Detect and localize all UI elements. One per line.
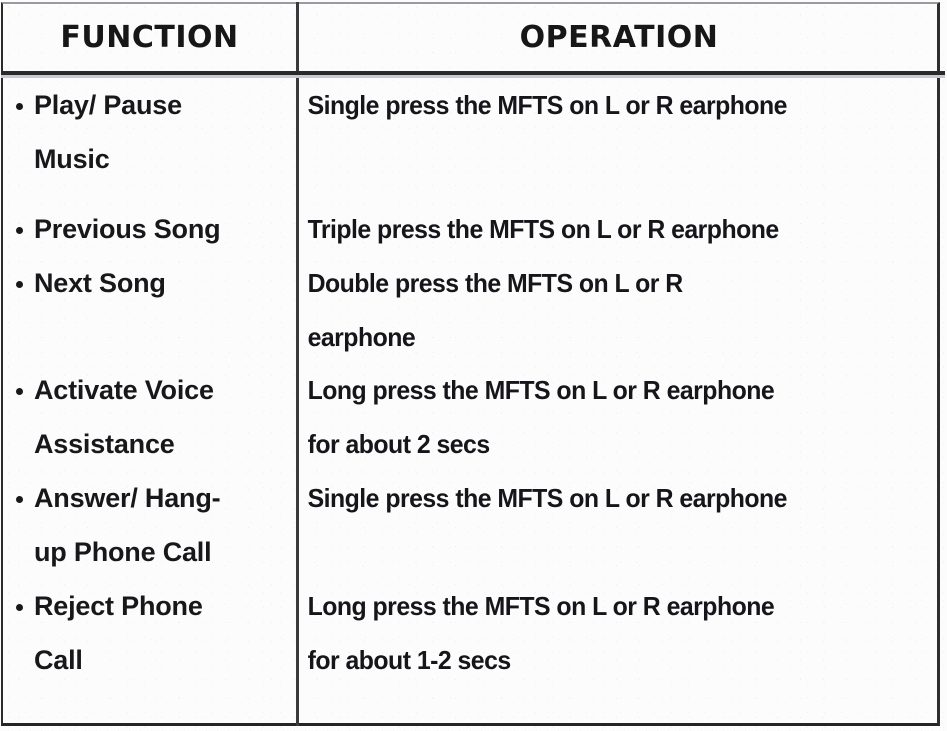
- header-cell-operation: OPERATION: [299, 4, 939, 71]
- operation-column: Single press the MFTS on L or R earphone…: [299, 78, 939, 726]
- header-cell-function: FUNCTION: [3, 4, 296, 71]
- function-line: up Phone Call: [3, 525, 211, 579]
- function-line: Reject Phone: [3, 579, 203, 633]
- operation-line: for about 1-2 secs: [299, 633, 511, 687]
- table-body: Play/ Pause Music Previous Song Next Son…: [0, 78, 947, 726]
- column-header-function: FUNCTION: [60, 20, 238, 55]
- operation-line: earphone: [299, 310, 415, 364]
- function-line: Next Song: [3, 256, 166, 310]
- column-header-operation: OPERATION: [520, 20, 719, 55]
- table-header-row: FUNCTION OPERATION: [0, 4, 947, 71]
- earphone-control-table-page: FUNCTION OPERATION Play/ Pause Music Pre…: [0, 0, 947, 731]
- operation-line: Single press the MFTS on L or R earphone: [299, 78, 787, 132]
- function-column: Play/ Pause Music Previous Song Next Son…: [3, 78, 296, 726]
- operation-line: Double press the MFTS on L or R: [299, 256, 683, 310]
- function-line: Play/ Pause: [3, 78, 182, 132]
- function-line: Assistance: [3, 417, 175, 471]
- function-line: Call: [3, 633, 83, 687]
- operation-line: Triple press the MFTS on L or R earphone: [299, 202, 779, 256]
- operation-line: for about 2 secs: [299, 417, 490, 471]
- operation-line: Single press the MFTS on L or R earphone: [299, 471, 787, 525]
- function-line: Activate Voice: [3, 363, 214, 417]
- function-line: Answer/ Hang-: [3, 471, 220, 525]
- function-line: Previous Song: [3, 202, 220, 256]
- operation-line: Long press the MFTS on L or R earphone: [299, 579, 774, 633]
- function-line: Music: [3, 132, 110, 186]
- operation-line: Long press the MFTS on L or R earphone: [299, 363, 774, 417]
